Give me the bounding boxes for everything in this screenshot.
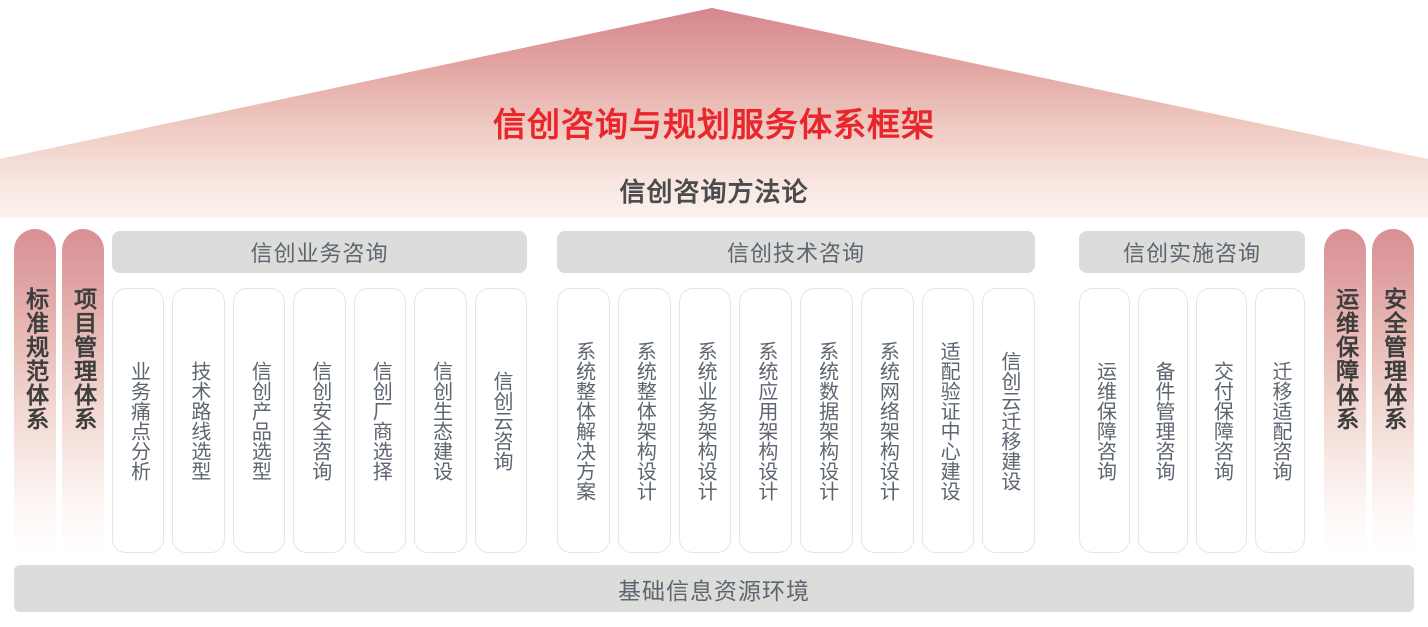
pillar-label: 标准规范体系 xyxy=(21,287,48,431)
group-card-list: 业务痛点分析 技术路线选型 信创产品选型 信创安全咨询 信创厂商选择 信创生态建… xyxy=(112,288,527,553)
card-item[interactable]: 信创云迁移建设 xyxy=(982,288,1035,553)
group-business-consulting: 信创业务咨询 业务痛点分析 技术路线选型 信创产品选型 信创安全咨询 信创厂商选… xyxy=(112,231,527,553)
group-implementation-consulting: 信创实施咨询 运维保障咨询 备件管理咨询 交付保障咨询 迁移适配咨询 xyxy=(1079,231,1305,553)
pillar-operations-support: 运维保障体系 xyxy=(1324,229,1366,554)
group-card-list: 系统整体解决方案 系统整体架构设计 系统业务架构设计 系统应用架构设计 系统数据… xyxy=(557,288,1035,553)
card-item[interactable]: 系统整体解决方案 xyxy=(557,288,610,553)
card-label: 技术路线选型 xyxy=(187,361,210,481)
pillar-project-management: 项目管理体系 xyxy=(62,229,104,554)
group-header: 信创实施咨询 xyxy=(1079,231,1305,273)
card-item[interactable]: 迁移适配咨询 xyxy=(1255,288,1306,553)
card-label: 系统业务架构设计 xyxy=(694,341,717,501)
card-item[interactable]: 信创生态建设 xyxy=(414,288,466,553)
pillar-label: 安全管理体系 xyxy=(1379,287,1406,431)
card-item[interactable]: 信创厂商选择 xyxy=(354,288,406,553)
card-label: 系统网络架构设计 xyxy=(876,341,899,501)
card-label: 交付保障咨询 xyxy=(1210,361,1233,481)
card-item[interactable]: 业务痛点分析 xyxy=(112,288,164,553)
card-label: 备件管理咨询 xyxy=(1151,361,1174,481)
foundation-bar: 基础信息资源环境 xyxy=(14,565,1414,612)
pillar-label: 运维保障体系 xyxy=(1331,287,1358,431)
card-item[interactable]: 运维保障咨询 xyxy=(1079,288,1130,553)
group-technical-consulting: 信创技术咨询 系统整体解决方案 系统整体架构设计 系统业务架构设计 系统应用架构… xyxy=(557,231,1035,553)
card-label: 运维保障咨询 xyxy=(1093,361,1116,481)
card-label: 业务痛点分析 xyxy=(127,361,150,481)
group-header: 信创业务咨询 xyxy=(112,231,527,273)
card-item[interactable]: 信创云咨询 xyxy=(475,288,527,553)
pillar-security-management: 安全管理体系 xyxy=(1372,229,1414,554)
card-label: 系统整体解决方案 xyxy=(572,341,595,501)
page-subtitle: 信创咨询方法论 xyxy=(0,172,1428,209)
pillar-standard-spec: 标准规范体系 xyxy=(14,229,56,554)
card-label: 信创产品选型 xyxy=(248,361,271,481)
card-label: 信创云咨询 xyxy=(489,371,512,471)
card-label: 信创云迁移建设 xyxy=(997,351,1020,491)
card-item[interactable]: 信创产品选型 xyxy=(233,288,285,553)
card-item[interactable]: 技术路线选型 xyxy=(172,288,224,553)
card-label: 迁移适配咨询 xyxy=(1268,361,1291,481)
card-label: 系统数据架构设计 xyxy=(815,341,838,501)
card-label: 信创安全咨询 xyxy=(308,361,331,481)
card-item[interactable]: 交付保障咨询 xyxy=(1196,288,1247,553)
card-label: 系统整体架构设计 xyxy=(633,341,656,501)
card-item[interactable]: 系统应用架构设计 xyxy=(739,288,792,553)
card-label: 适配验证中心建设 xyxy=(937,341,960,501)
page-title: 信创咨询与规划服务体系框架 xyxy=(0,98,1428,146)
card-item[interactable]: 备件管理咨询 xyxy=(1138,288,1189,553)
pillar-label: 项目管理体系 xyxy=(69,287,96,431)
card-item[interactable]: 系统数据架构设计 xyxy=(800,288,853,553)
card-item[interactable]: 系统整体架构设计 xyxy=(618,288,671,553)
group-header: 信创技术咨询 xyxy=(557,231,1035,273)
card-item[interactable]: 信创安全咨询 xyxy=(293,288,345,553)
framework-diagram: 信创咨询与规划服务体系框架 信创咨询方法论 标准规范体系 项目管理体系 运维保障… xyxy=(0,0,1428,627)
card-item[interactable]: 系统业务架构设计 xyxy=(679,288,732,553)
card-label: 信创厂商选择 xyxy=(369,361,392,481)
card-label: 系统应用架构设计 xyxy=(754,341,777,501)
card-item[interactable]: 适配验证中心建设 xyxy=(922,288,975,553)
card-item[interactable]: 系统网络架构设计 xyxy=(861,288,914,553)
card-label: 信创生态建设 xyxy=(429,361,452,481)
group-card-list: 运维保障咨询 备件管理咨询 交付保障咨询 迁移适配咨询 xyxy=(1079,288,1305,553)
